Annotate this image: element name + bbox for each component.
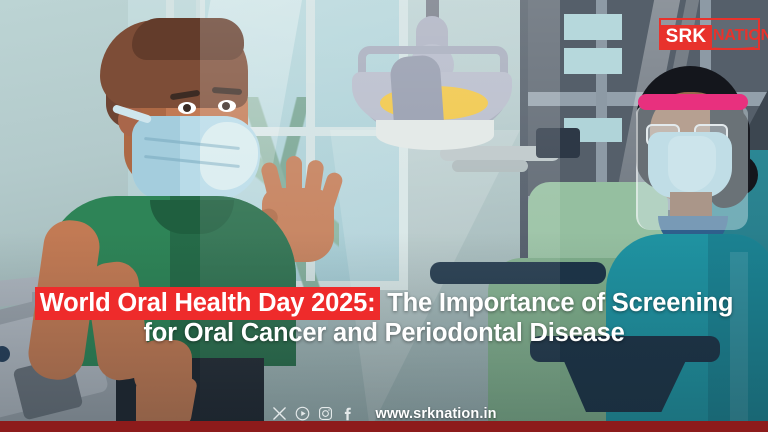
- chair-tray-box: [536, 128, 580, 158]
- banner-image: SRK NATION World Oral Health Day 2025: T…: [0, 0, 768, 432]
- lamp-lens: [376, 120, 494, 150]
- finger: [286, 156, 302, 210]
- logo-mark-text: SRK: [660, 25, 712, 48]
- footer-bar: www.srknation.in: [0, 405, 768, 422]
- dentist-face-shield: [636, 106, 748, 230]
- patient-eye: [218, 100, 236, 112]
- instagram-icon[interactable]: [317, 405, 334, 422]
- bottom-accent-bar: [0, 421, 768, 432]
- page-title: World Oral Health Day 2025: The Importan…: [0, 288, 768, 348]
- supply-box: [564, 14, 622, 40]
- face-shield-headband: [638, 94, 748, 110]
- chair-tray-arm: [452, 160, 528, 172]
- website-url[interactable]: www.srknation.in: [375, 406, 496, 422]
- srk-nation-logo[interactable]: SRK NATION: [659, 18, 760, 50]
- social-icons-group: [271, 405, 357, 422]
- headline-block: World Oral Health Day 2025: The Importan…: [0, 288, 768, 348]
- dental-chair-armrest: [430, 262, 606, 284]
- patient-hair-top: [132, 18, 244, 60]
- youtube-icon[interactable]: [294, 405, 311, 422]
- x-twitter-icon[interactable]: [271, 405, 288, 422]
- patient-figure: [40, 10, 310, 432]
- logo-swoosh-icon: [713, 43, 757, 50]
- facebook-icon[interactable]: [340, 405, 357, 422]
- dental-lamp: [330, 0, 540, 154]
- patient-eye: [178, 102, 196, 114]
- headline-highlight: World Oral Health Day 2025:: [35, 287, 381, 320]
